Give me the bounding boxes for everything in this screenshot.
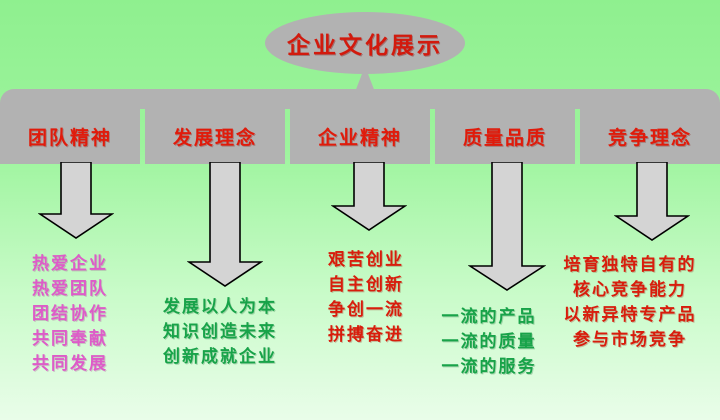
text-line: 一流的服务 [424,355,554,380]
category-boxes-row: 团队精神 发展理念 企业精神 质量品质 竞争理念 [0,109,720,164]
text-column-enterprise-spirit: 艰苦创业 自主创新 争创一流 拼搏奋进 [296,248,436,348]
text-line: 核心竞争能力 [540,278,720,303]
category-label: 团队精神 [28,123,112,150]
page-title: 企业文化展示 [287,26,443,60]
diagram-canvas: 企业文化展示 团队精神 发展理念 企业精神 质量品质 竞争理念 [0,0,720,420]
down-arrow-icon-2 [187,162,263,288]
down-arrow-icon-1 [38,162,114,240]
text-line: 共同奉献 [0,327,140,352]
category-box-team-spirit[interactable]: 团队精神 [0,109,140,164]
title-ellipse: 企业文化展示 [265,12,465,74]
category-label: 竞争理念 [608,123,692,150]
category-box-enterprise-spirit[interactable]: 企业精神 [290,109,430,164]
text-column-quality: 一流的产品 一流的质量 一流的服务 [424,305,554,380]
category-label: 企业精神 [318,123,402,150]
text-line: 一流的质量 [424,330,554,355]
text-line: 热爱团队 [0,277,140,302]
text-line: 知识创造未来 [144,320,296,345]
text-line: 拼搏奋进 [296,323,436,348]
text-line: 争创一流 [296,298,436,323]
text-line: 参与市场竞争 [540,328,720,353]
text-column-development-philosophy: 发展以人为本 知识创造未来 创新成就企业 [144,295,296,370]
text-column-competition-philosophy: 培育独特自有的 核心竞争能力 以新异特专产品 参与市场竞争 [540,253,720,353]
text-column-team-spirit: 热爱企业 热爱团队 团结协作 共同奉献 共同发展 [0,252,140,377]
down-arrow-icon-5 [614,162,690,242]
category-box-competition-philosophy[interactable]: 竞争理念 [580,109,720,164]
text-line: 创新成就企业 [144,345,296,370]
category-box-development-philosophy[interactable]: 发展理念 [145,109,285,164]
text-line: 一流的产品 [424,305,554,330]
text-line: 艰苦创业 [296,248,436,273]
category-label: 质量品质 [463,123,547,150]
text-line: 以新异特专产品 [540,303,720,328]
down-arrow-icon-4 [468,162,546,292]
text-line: 发展以人为本 [144,295,296,320]
text-line: 培育独特自有的 [540,253,720,278]
category-label: 发展理念 [173,123,257,150]
text-line: 团结协作 [0,302,140,327]
text-line: 热爱企业 [0,252,140,277]
connector-bar [0,89,720,109]
down-arrow-icon-3 [331,162,407,232]
category-box-quality[interactable]: 质量品质 [435,109,575,164]
text-line: 自主创新 [296,273,436,298]
text-line: 共同发展 [0,352,140,377]
